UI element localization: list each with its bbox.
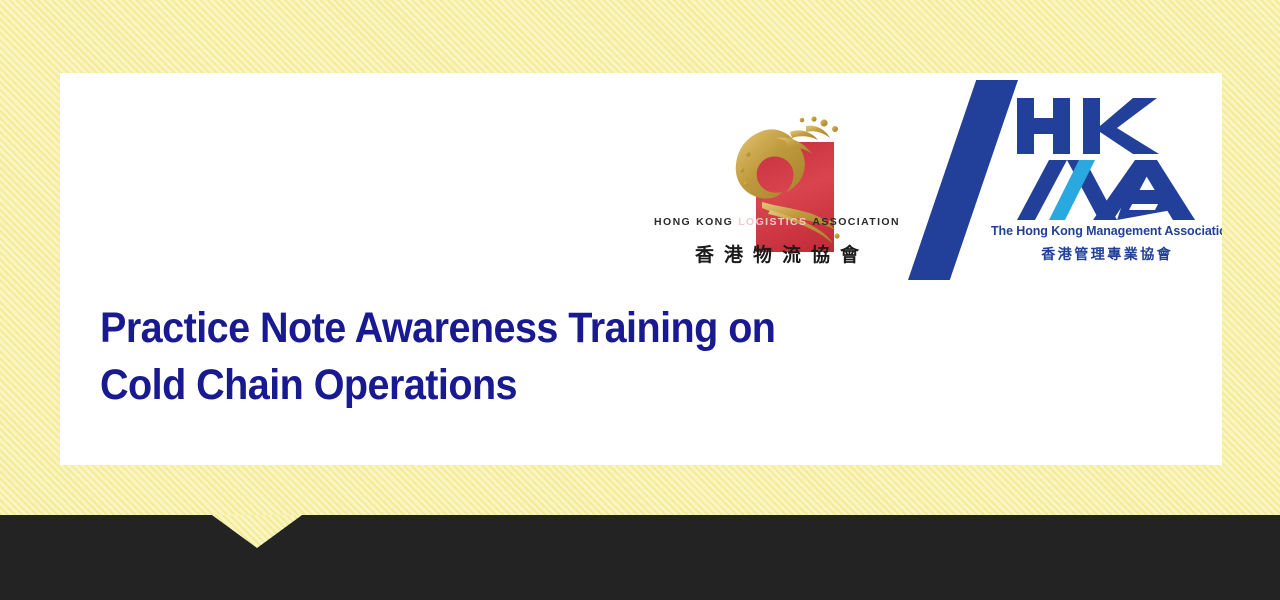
title-line-2: Cold Chain Operations xyxy=(100,357,854,414)
page-title: Practice Note Awareness Training on Cold… xyxy=(100,300,920,414)
hkma-wordmark-icon xyxy=(1009,94,1204,224)
logo-lockup: HONG KONG LOGISTICS ASSOCIATION 香港物流協會 xyxy=(646,80,1222,295)
hkma-chinese-name: 香港管理專業協會 xyxy=(991,244,1221,264)
hkma-logo: The Hong Kong Management Association 香港管… xyxy=(991,94,1221,280)
footer-bar xyxy=(0,515,1280,600)
content-card: HONG KONG LOGISTICS ASSOCIATION 香港物流協會 xyxy=(60,73,1222,465)
hkla-word-logistics: LOGISTICS xyxy=(738,216,807,228)
hkla-chinese-name: 香港物流協會 xyxy=(646,240,908,267)
title-line-1: Practice Note Awareness Training on xyxy=(100,300,854,357)
hkla-word-kong: KONG xyxy=(696,216,733,228)
title-slide: HONG KONG LOGISTICS ASSOCIATION 香港物流協會 xyxy=(0,0,1280,600)
hkla-english-name: HONG KONG LOGISTICS ASSOCIATION xyxy=(646,212,908,232)
hkla-word-hong: HONG xyxy=(654,216,691,228)
hkma-english-name: The Hong Kong Management Association xyxy=(991,224,1221,238)
hkla-word-association: ASSOCIATION xyxy=(812,216,900,228)
hkla-logo: HONG KONG LOGISTICS ASSOCIATION 香港物流協會 xyxy=(646,110,908,285)
